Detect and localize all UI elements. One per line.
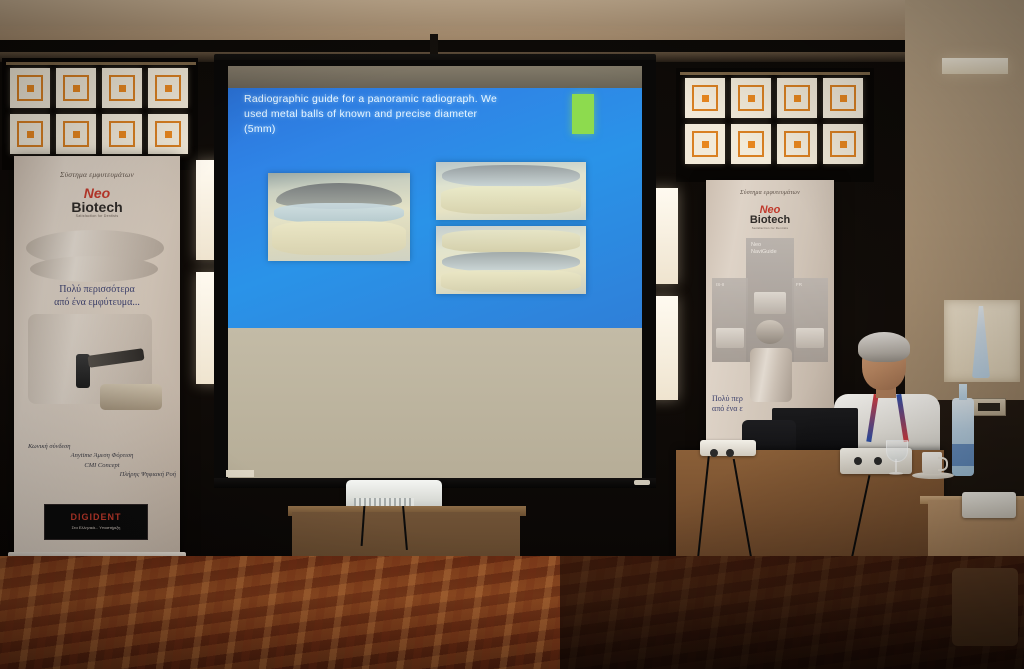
slide-top-shadow-band xyxy=(228,66,642,88)
decor-square-panel xyxy=(777,124,817,164)
implant-illustration-thread xyxy=(30,256,158,282)
decor-rail-right xyxy=(680,72,870,75)
decor-square-panel xyxy=(10,114,50,154)
banner-right-eyebrow: Σύστημα εμφυτευμάτων xyxy=(706,190,834,196)
decor-panel-grid-right xyxy=(685,78,863,164)
decor-square-panel xyxy=(10,68,50,108)
banner-left-bullets: Κωνική σύνδεση Anytime Άμεση Φόρτιση CMI… xyxy=(28,442,176,480)
neobiotech-logo-tagline: Satisfaction for Dentists xyxy=(14,215,180,219)
neobiotech-logo-biotech: Biotech xyxy=(706,215,834,226)
ceiling-light xyxy=(942,58,1008,74)
decor-square-panel xyxy=(731,124,771,164)
neobiotech-logo-biotech: Biotech xyxy=(14,200,180,214)
banner-left-headline-line-2: από ένα εμφύτευμα... xyxy=(22,297,172,310)
banner-left-eyebrow: Σύστημα εμφυτευμάτων xyxy=(14,170,180,179)
decor-rail-left xyxy=(6,62,196,65)
model-illustration xyxy=(100,384,162,410)
decor-square-panel xyxy=(823,124,863,164)
digident-logo: DIGIDENT xyxy=(45,512,147,522)
surgical-kit-box xyxy=(754,292,786,314)
wine-glass xyxy=(886,440,906,478)
water-bottle xyxy=(952,398,974,476)
banner-left-bullet-1: Anytime Άμεση Φόρτιση xyxy=(28,451,176,460)
product-panel-label-2: FR xyxy=(796,282,802,287)
decor-panel-grid-left xyxy=(10,68,188,154)
slide-photo-dental-cast-lower xyxy=(436,226,586,294)
digident-logo-block: DIGIDENT Στα Ελληνικά... Υποστήριξη xyxy=(44,504,148,540)
implant-photo xyxy=(756,320,784,344)
av-device-left[interactable] xyxy=(700,440,756,456)
presenter-hair xyxy=(858,332,910,362)
banner-left-headline-line-1: Πολύ περισσότερα xyxy=(22,284,172,297)
slide-photo-dental-cast-occlusal xyxy=(268,173,410,261)
slide-green-accent-block xyxy=(572,94,594,134)
product-panel-right: FR xyxy=(792,278,828,362)
product-title-line-1: Neo xyxy=(751,242,761,248)
stool xyxy=(952,568,1018,646)
product-title-line-2: NaviGuide xyxy=(751,249,777,256)
decor-square-panel xyxy=(56,68,96,108)
light-switch-plate[interactable] xyxy=(972,398,1006,416)
slide-title-line-1: Radiographic guide for a panoramic radio… xyxy=(244,92,544,107)
banner-left-headline: Πολύ περισσότερα από ένα εμφύτευμα... xyxy=(22,284,172,309)
screen-pull-tab[interactable] xyxy=(634,480,650,485)
banner-left: Σύστημα εμφυτευμάτων Neo Biotech Satisfa… xyxy=(14,156,180,560)
digident-tagline: Στα Ελληνικά... Υποστήριξη xyxy=(45,525,147,530)
neobiotech-logo-tagline: Satisfaction for Dentists xyxy=(706,227,834,230)
product-panel-label-0: IS-II xyxy=(716,282,724,287)
decor-square-panel xyxy=(731,78,771,118)
screen-brand-label xyxy=(226,470,254,477)
decor-square-panel xyxy=(56,114,96,154)
banner-right-headline-line-1: Πολύ περ xyxy=(712,394,802,404)
decor-square-panel xyxy=(102,114,142,154)
printer-device[interactable] xyxy=(962,492,1016,518)
decor-square-panel xyxy=(102,68,142,108)
decor-square-panel xyxy=(148,68,188,108)
projected-slide: Radiographic guide for a panoramic radio… xyxy=(228,66,642,328)
decor-square-panel xyxy=(148,114,188,154)
decor-square-panel xyxy=(777,78,817,118)
coffee-mug xyxy=(922,452,942,474)
slide-photo-dental-cast-upper xyxy=(436,162,586,220)
banner-left-bullet-2: CMI Concept xyxy=(28,461,176,470)
product-panel-center: Neo NaviGuide xyxy=(746,238,794,362)
decor-square-panel xyxy=(685,78,725,118)
slide-title-line-3: (5mm) xyxy=(244,122,544,137)
ceiling-strip xyxy=(0,0,1024,26)
surgical-kit-box xyxy=(716,328,744,348)
product-panel-left: IS-II xyxy=(712,278,748,362)
screen-blank-area xyxy=(228,328,642,478)
decor-square-panel xyxy=(685,124,725,164)
slide-title-line-2: used metal balls of known and precise di… xyxy=(244,107,544,122)
decor-square-panel xyxy=(823,78,863,118)
banner-left-bullet-3: Πλήρης Ψηφιακή Ροή xyxy=(28,470,176,479)
conference-room-photo: Radiographic guide for a panoramic radio… xyxy=(0,0,1024,669)
surgical-kit-box xyxy=(796,328,824,348)
banner-left-bullet-0: Κωνική σύνδεση xyxy=(28,442,176,451)
slide-title-text: Radiographic guide for a panoramic radio… xyxy=(244,92,544,137)
